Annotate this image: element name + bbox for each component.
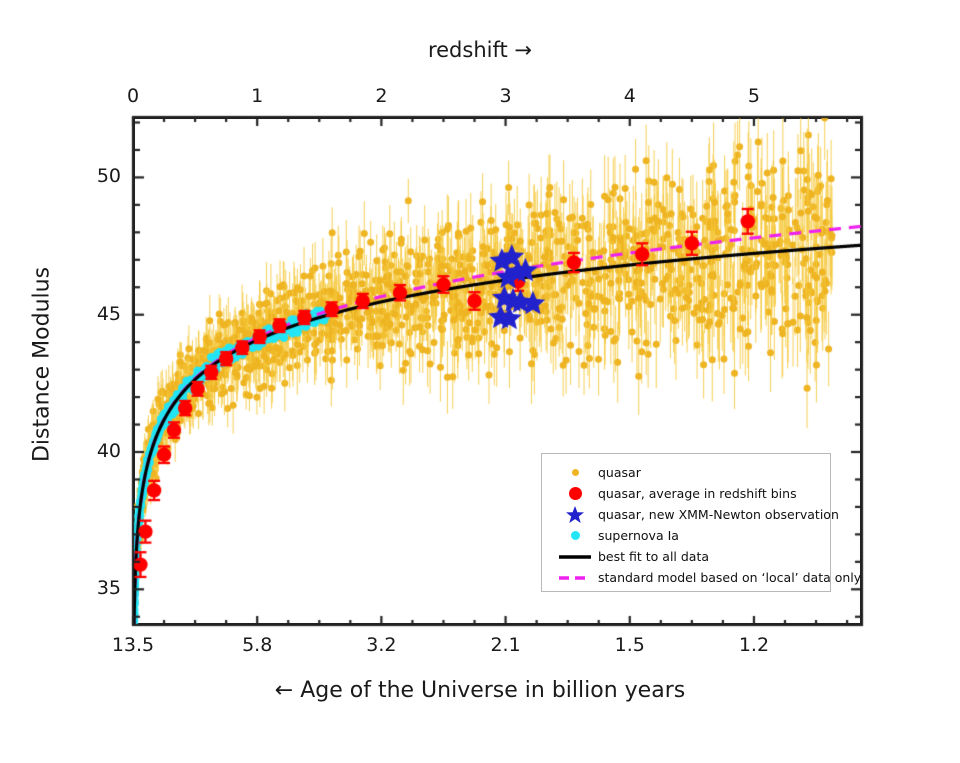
supernova-dot-icon	[552, 531, 598, 540]
legend-item-3: supernova Ia	[542, 525, 830, 546]
legend-item-1: quasar, average in redshift bins	[542, 483, 830, 504]
legend-item-5: standard model based on ‘local’ data onl…	[542, 567, 830, 588]
legend-label-2: quasar, new XMM-Newton observation	[598, 507, 839, 522]
chart-legend: quasarquasar, average in redshift binsqu…	[541, 453, 831, 592]
legend-item-2: quasar, new XMM-Newton observation	[542, 504, 830, 525]
bottom-axis-title: ← Age of the Universe in billion years	[0, 678, 960, 703]
quasar-dot-icon	[552, 469, 598, 476]
quasar-avg-dot-icon	[552, 487, 598, 500]
solid-line-icon	[552, 552, 598, 562]
legend-label-0: quasar	[598, 465, 641, 480]
legend-item-4: best fit to all data	[542, 546, 830, 567]
distance-modulus-chart: redshift → 012345 35404550 13.55.83.22.1…	[0, 0, 960, 763]
dashed-line-icon	[552, 573, 598, 583]
legend-label-3: supernova Ia	[598, 528, 679, 543]
chart-canvas	[0, 0, 960, 763]
legend-item-0: quasar	[542, 462, 830, 483]
legend-label-1: quasar, average in redshift bins	[598, 486, 797, 501]
legend-label-5: standard model based on ‘local’ data onl…	[598, 570, 861, 585]
legend-label-4: best fit to all data	[598, 549, 709, 564]
xmm-star-icon	[552, 505, 598, 525]
